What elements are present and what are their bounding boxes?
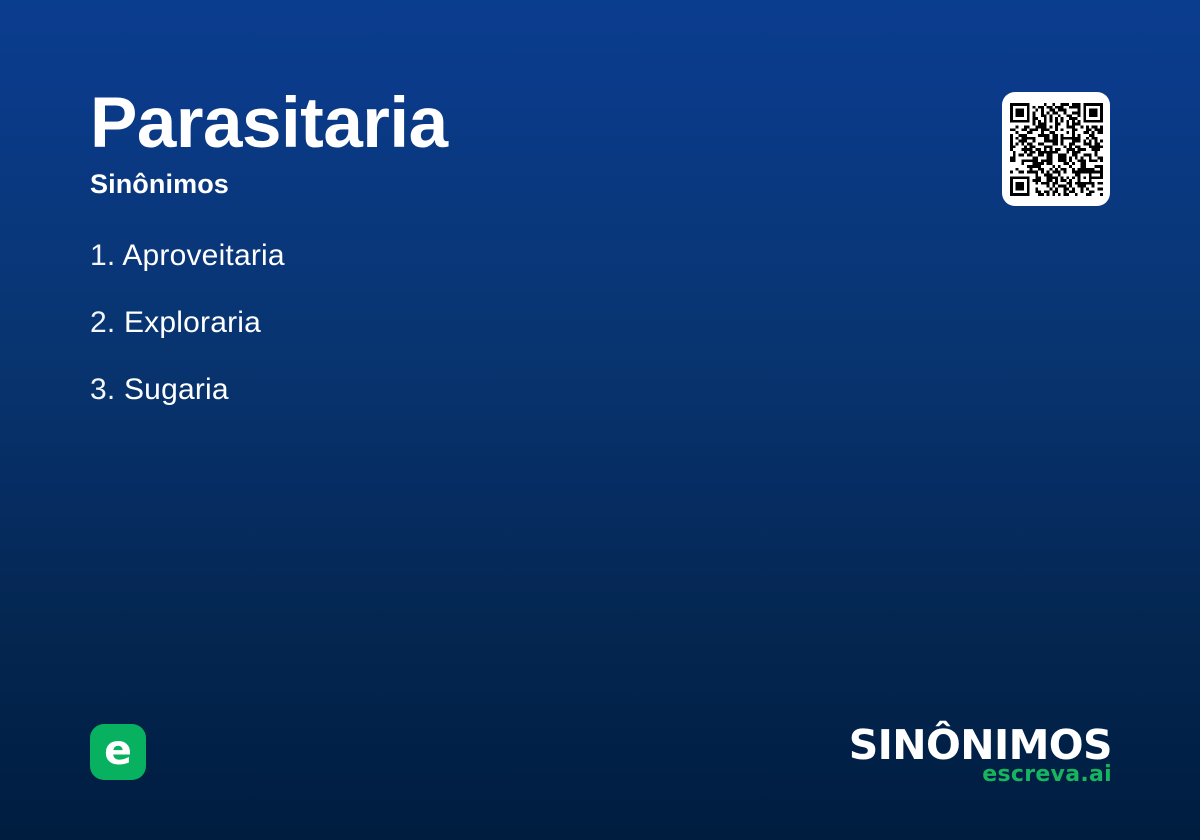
list-item: 1. Aproveitaria — [90, 236, 850, 276]
list-item: 3. Sugaria — [90, 370, 850, 410]
qr-code-icon[interactable] — [1010, 103, 1103, 196]
sinonimos-wordmark-main: SINÔNIMOS — [849, 724, 1112, 766]
header-block: Parasitaria Sinônimos — [90, 86, 790, 200]
list-item-index: 1. — [90, 239, 115, 272]
list-item-word: Exploraria — [124, 306, 261, 339]
page-subtitle: Sinônimos — [90, 162, 790, 200]
escreva-logo-mark[interactable]: e — [90, 724, 146, 780]
list-item: 2. Exploraria — [90, 303, 850, 343]
escreva-logo-letter: e — [104, 730, 132, 771]
list-item-word: Sugaria — [124, 373, 229, 406]
list-item-index: 3. — [90, 373, 115, 406]
synonyms-list: 1. Aproveitaria 2. Exploraria 3. Sugaria — [90, 236, 850, 437]
sinonimos-wordmark[interactable]: SINÔNIMOS escreva.ai — [849, 724, 1112, 787]
list-item-word: Aproveitaria — [122, 239, 284, 272]
list-item-index: 2. — [90, 306, 115, 339]
synonym-card: Parasitaria Sinônimos 1. Aproveitaria 2.… — [0, 0, 1200, 840]
qr-code-panel[interactable] — [1002, 92, 1110, 206]
page-title: Parasitaria — [90, 86, 790, 162]
